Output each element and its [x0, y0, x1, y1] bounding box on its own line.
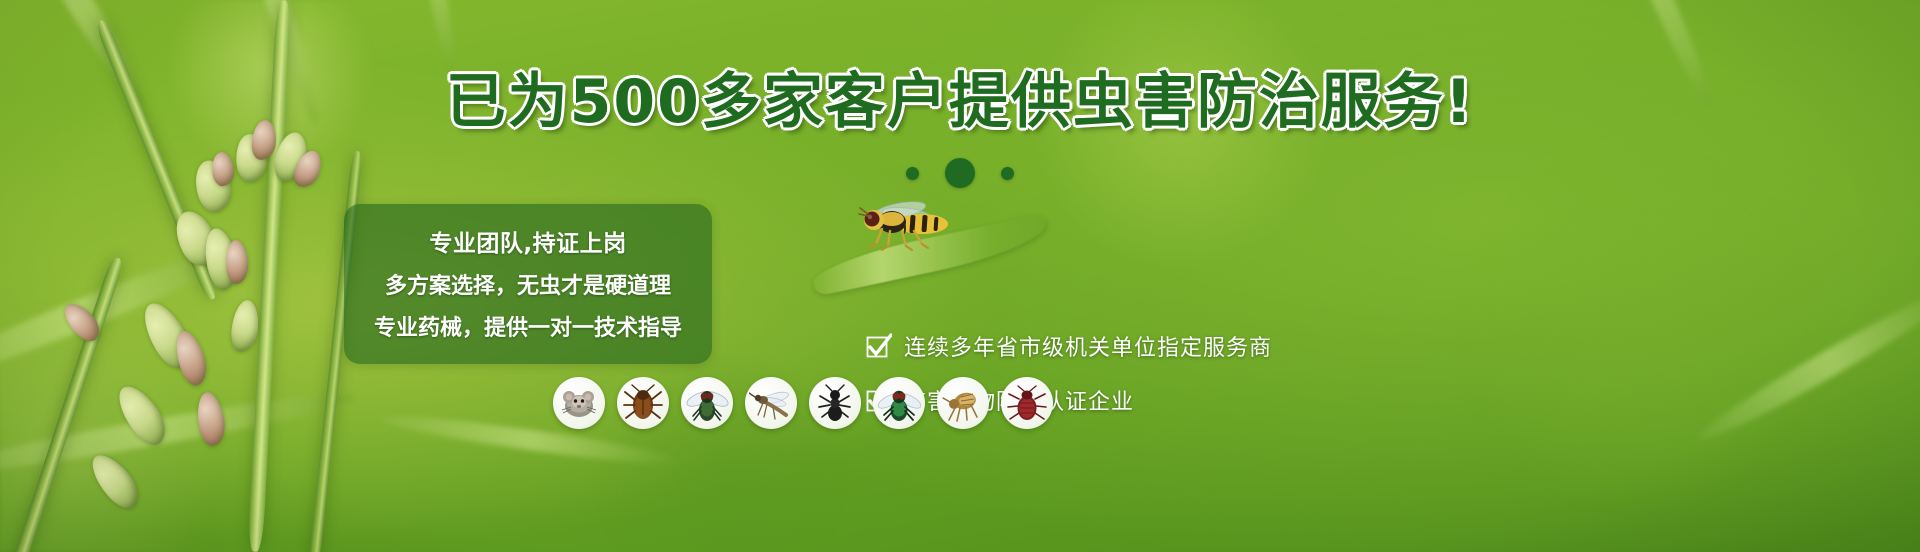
pest-icon-row: [553, 377, 1053, 429]
mosquito-icon[interactable]: [745, 377, 797, 429]
checkbox-checked-icon: [866, 333, 892, 359]
claim-line-1: 专业团队,持证上岗: [429, 224, 626, 258]
mouse-icon[interactable]: [553, 377, 605, 429]
checklist-item: 连续多年省市级机关单位指定服务商: [866, 330, 1272, 362]
dot-small-left: [906, 167, 919, 180]
claim-line-2: 多方案选择，无虫才是硬道理: [385, 268, 671, 300]
claim-line-3: 专业药械，提供一对一技术指导: [374, 310, 682, 342]
dot-small-right: [1001, 167, 1014, 180]
hoverfly-illustration: [848, 198, 960, 254]
claims-list: 专业团队,持证上岗 多方案选择，无虫才是硬道理 专业药械，提供一对一技术指导: [344, 204, 712, 364]
promo-banner: 已为500多家客户提供虫害防治服务! 专业团队,持证上岗 多方案选择，无虫才是硬…: [0, 0, 1920, 552]
headline-container: 已为500多家客户提供虫害防治服务!: [0, 72, 1920, 132]
decorative-dot-row: [0, 158, 1920, 188]
greenbottle-fly-icon[interactable]: [873, 377, 925, 429]
flea-icon[interactable]: [937, 377, 989, 429]
housefly-icon[interactable]: [681, 377, 733, 429]
ant-icon[interactable]: [809, 377, 861, 429]
page-title: 已为500多家客户提供虫害防治服务!: [446, 72, 1475, 132]
checklist-label-1: 连续多年省市级机关单位指定服务商: [904, 330, 1272, 362]
dot-large-center: [945, 158, 975, 188]
bedbug-icon[interactable]: [1001, 377, 1053, 429]
cockroach-icon[interactable]: [617, 377, 669, 429]
